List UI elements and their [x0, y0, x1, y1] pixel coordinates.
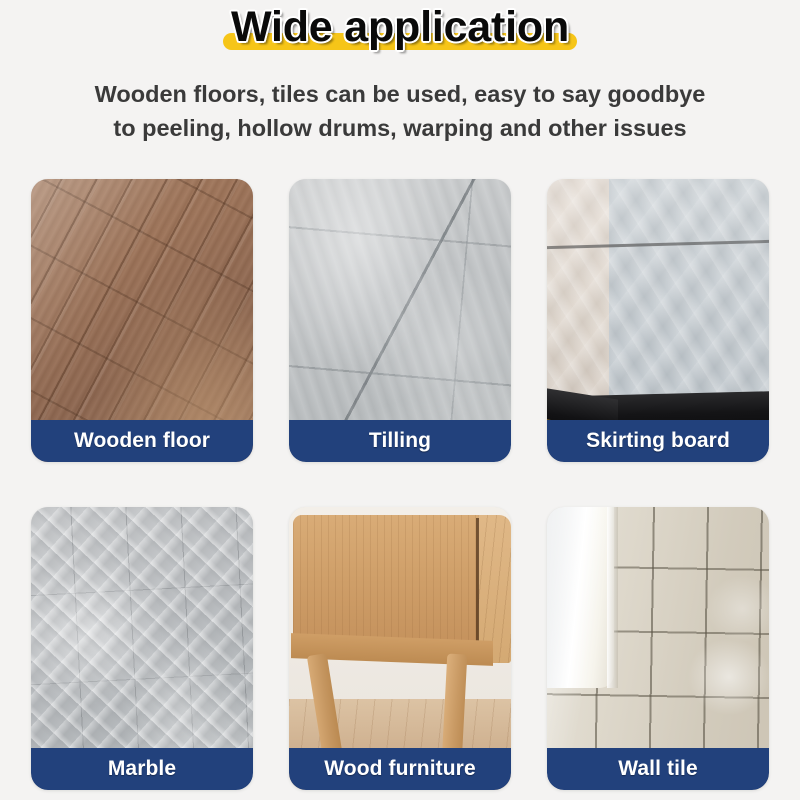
card-label: Marble — [31, 748, 253, 790]
skirting-marble-veins — [547, 179, 769, 411]
application-card[interactable]: Skirting board — [547, 179, 769, 462]
application-card[interactable]: Tilling — [289, 179, 511, 462]
application-card[interactable]: Wooden floor — [31, 179, 253, 462]
subtitle-line-1: Wooden floors, tiles can be used, easy t… — [55, 78, 745, 111]
furniture-cabinet-body — [293, 515, 488, 648]
subtitle-line-2: to peeling, hollow drums, warping and ot… — [55, 112, 745, 145]
card-label: Wall tile — [547, 748, 769, 790]
furniture-door-gap — [476, 518, 479, 654]
card-label: Skirting board — [547, 420, 769, 462]
application-card[interactable]: Wall tile — [547, 507, 769, 790]
card-label: Tilling — [289, 420, 511, 462]
card-label: Wooden floor — [31, 420, 253, 462]
application-card-grid: Wooden floor Tilling Skirting board Marb… — [31, 179, 769, 790]
page-header: Wide application Wooden floors, tiles ca… — [0, 0, 800, 145]
page-title-text: Wide application — [231, 3, 569, 51]
application-card[interactable]: Marble — [31, 507, 253, 790]
application-card[interactable]: Wood furniture — [289, 507, 511, 790]
page-title: Wide application — [217, 4, 583, 56]
page-subtitle: Wooden floors, tiles can be used, easy t… — [55, 78, 745, 145]
card-label: Wood furniture — [289, 748, 511, 790]
